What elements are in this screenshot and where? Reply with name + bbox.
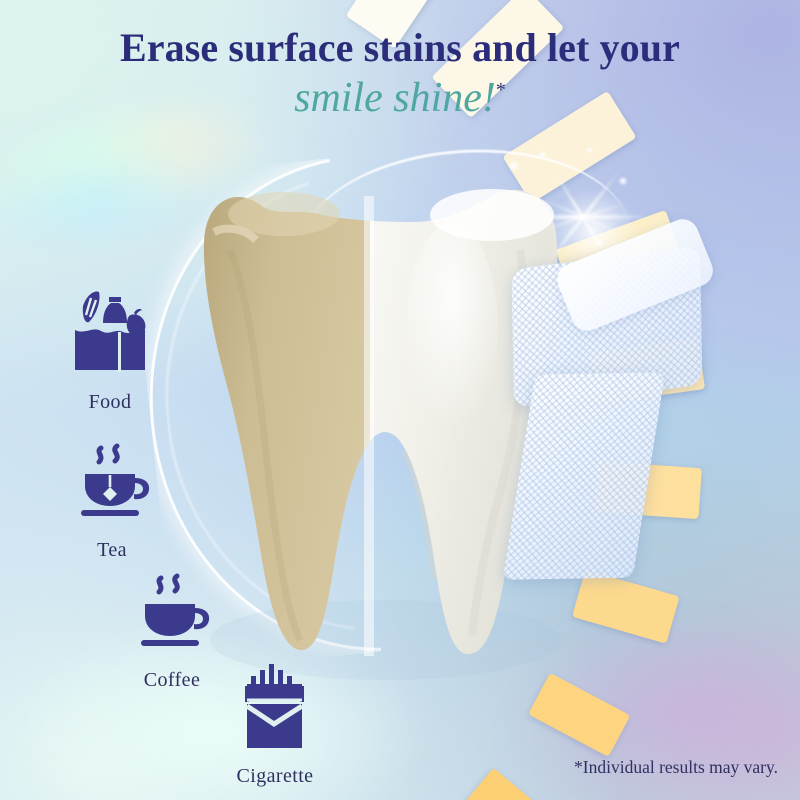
stain-source-cigarette: Cigarette [205, 662, 345, 788]
coffee-cup-icon [131, 572, 213, 658]
grocery-bag-icon [71, 288, 149, 380]
headline-line-1: Erase surface stains and let your [0, 26, 800, 70]
teacup-icon [71, 442, 153, 528]
headline-asterisk: * [496, 79, 506, 101]
promo-canvas: Erase surface stains and let your smile … [0, 0, 800, 800]
headline-line-2: smile shine!* [0, 74, 800, 122]
headline-line-2-text: smile shine! [294, 75, 496, 121]
stain-source-label: Food [40, 391, 180, 414]
stain-source-label: Tea [52, 539, 172, 562]
stain-source-tea: Tea [52, 442, 172, 562]
headline-block: Erase surface stains and let your smile … [0, 26, 800, 122]
stain-source-food: Food [40, 288, 180, 414]
footnote: *Individual results may vary. [574, 757, 778, 778]
stain-source-label: Cigarette [205, 765, 345, 788]
cigarette-pack-icon [237, 662, 313, 754]
